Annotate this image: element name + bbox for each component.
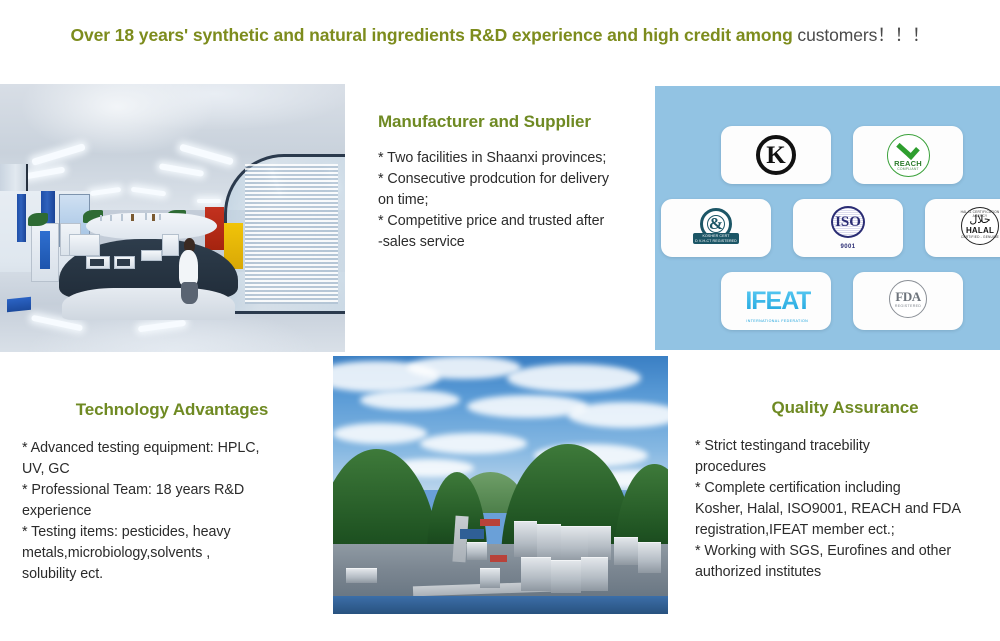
ceiling-light-icon	[197, 199, 221, 203]
reagent-bottle	[152, 214, 155, 221]
certifications-row-2: & KOSHER CERT D V-H-CT REGISTERED ISO 90…	[661, 199, 1000, 257]
village-house	[467, 542, 487, 560]
page-title-tail: customers！！！	[793, 25, 930, 45]
red-roof-building	[490, 555, 507, 563]
seal-band-line-1: KOSHER CERT	[693, 234, 739, 238]
apartment-block	[581, 557, 608, 591]
technology-body: * Advanced testing equipment: HPLC, UV, …	[22, 438, 322, 585]
mountain-town-aerial-panorama-photo	[333, 356, 668, 614]
cloud	[407, 356, 521, 379]
apartment-block	[588, 526, 611, 560]
page-title-main: Over 18 years' synthetic and natural ing…	[71, 25, 793, 45]
apartment-block	[521, 557, 551, 591]
lab-instrument	[141, 250, 162, 261]
iso-number: 9001	[824, 244, 872, 250]
reagent-vial	[159, 214, 161, 220]
laboratory-panorama-photo	[0, 84, 345, 352]
iso-label: ISO	[824, 215, 872, 230]
iso-badge-card[interactable]: ISO 9001	[793, 199, 903, 257]
kosher-k-icon: K	[756, 135, 796, 175]
seal-band: KOSHER CERT D V-H-CT REGISTERED	[693, 233, 739, 244]
lab-instrument	[69, 234, 100, 255]
blue-roof-building	[460, 529, 483, 539]
kosher-seal-badge-card[interactable]: & KOSHER CERT D V-H-CT REGISTERED	[661, 199, 771, 257]
cloud	[420, 433, 527, 454]
lab-technician-coat	[179, 250, 198, 285]
kosher-seal-icon: & KOSHER CERT D V-H-CT REGISTERED	[693, 208, 739, 248]
lab-instrument-screen	[117, 259, 129, 265]
reagent-vial	[100, 215, 102, 221]
river	[333, 596, 668, 614]
manufacturer-panel: Manufacturer and Supplier * Two faciliti…	[378, 112, 653, 253]
quality-title: Quality Assurance	[695, 398, 995, 418]
seal-mark: &	[693, 214, 739, 234]
apartment-block	[614, 537, 637, 565]
certifications-panel: K REACH COMPLIANT & KOSHER CERT D V-H-CT…	[655, 86, 1000, 350]
halal-label: HALAL	[957, 226, 1000, 235]
lab-technician-legs	[181, 282, 198, 303]
cloud	[507, 364, 641, 392]
iso-icon: ISO 9001	[824, 206, 872, 250]
reach-badge-card[interactable]: REACH COMPLIANT	[853, 126, 963, 184]
village-house	[480, 568, 500, 589]
manufacturer-body: * Two facilities in Shaanxi provinces; *…	[378, 148, 653, 253]
cloud	[333, 423, 427, 444]
checkmark-icon	[896, 136, 920, 159]
fda-icon: FDA REGISTERED	[886, 280, 930, 322]
red-roof-building	[480, 519, 500, 527]
ifeat-label: IFEAT	[745, 287, 810, 315]
technology-title: Technology Advantages	[22, 400, 322, 420]
halal-badge-card[interactable]: HALAL CERTIFICATION AGENCY حلال HALAL CE…	[925, 199, 1000, 257]
seal-band-line-2: D V-H-CT REGISTERED	[693, 239, 739, 243]
certifications-row-1: K REACH COMPLIANT	[721, 126, 963, 184]
reach-icon: REACH COMPLIANT	[887, 134, 930, 177]
certifications-row-3: IFEAT INTERNATIONAL FEDERATION FDA REGIS…	[721, 272, 963, 330]
cloud	[360, 390, 461, 411]
lab-bench-cabinets	[62, 288, 235, 320]
lab-instrument	[162, 234, 179, 255]
apartment-block	[638, 542, 661, 573]
ifeat-icon: IFEAT INTERNATIONAL FEDERATION	[741, 287, 810, 316]
halal-icon: HALAL CERTIFICATION AGENCY حلال HALAL CE…	[957, 207, 1000, 249]
fda-label: FDA	[886, 290, 930, 303]
page-title: Over 18 years' synthetic and natural ing…	[0, 22, 1000, 47]
manufacturer-title: Manufacturer and Supplier	[378, 112, 653, 132]
reagent-bottle	[131, 214, 134, 221]
slide-root: Over 18 years' synthetic and natural ing…	[0, 0, 1000, 641]
technology-panel: Technology Advantages * Advanced testing…	[22, 400, 322, 585]
ifeat-sublabel: INTERNATIONAL FEDERATION	[746, 319, 808, 323]
apartment-block	[514, 521, 537, 557]
halal-arabic-script: حلال	[957, 214, 1000, 225]
reagent-vial	[145, 213, 147, 220]
quality-body: * Strict testingand tracebility procedur…	[695, 436, 995, 583]
lab-window-blinds	[245, 164, 338, 303]
reach-sublabel: COMPLIANT	[888, 167, 929, 171]
lab-instrument-screen	[90, 259, 104, 265]
reagent-vial	[110, 215, 112, 221]
halal-bottom-arc: CERTIFIED - GENUINE	[957, 235, 1000, 239]
fda-sublabel: REGISTERED	[886, 304, 930, 308]
fda-badge-card[interactable]: FDA REGISTERED	[853, 272, 963, 330]
apartment-block	[551, 560, 581, 594]
lab-refrigerator-panel	[40, 231, 50, 269]
ifeat-badge-card[interactable]: IFEAT INTERNATIONAL FEDERATION	[721, 272, 831, 330]
kosher-k-badge-card[interactable]: K	[721, 126, 831, 184]
lab-curtain	[17, 194, 26, 242]
quality-panel: Quality Assurance * Strict testingand tr…	[695, 398, 995, 583]
village-house	[346, 568, 376, 583]
reagent-vial	[121, 214, 123, 221]
